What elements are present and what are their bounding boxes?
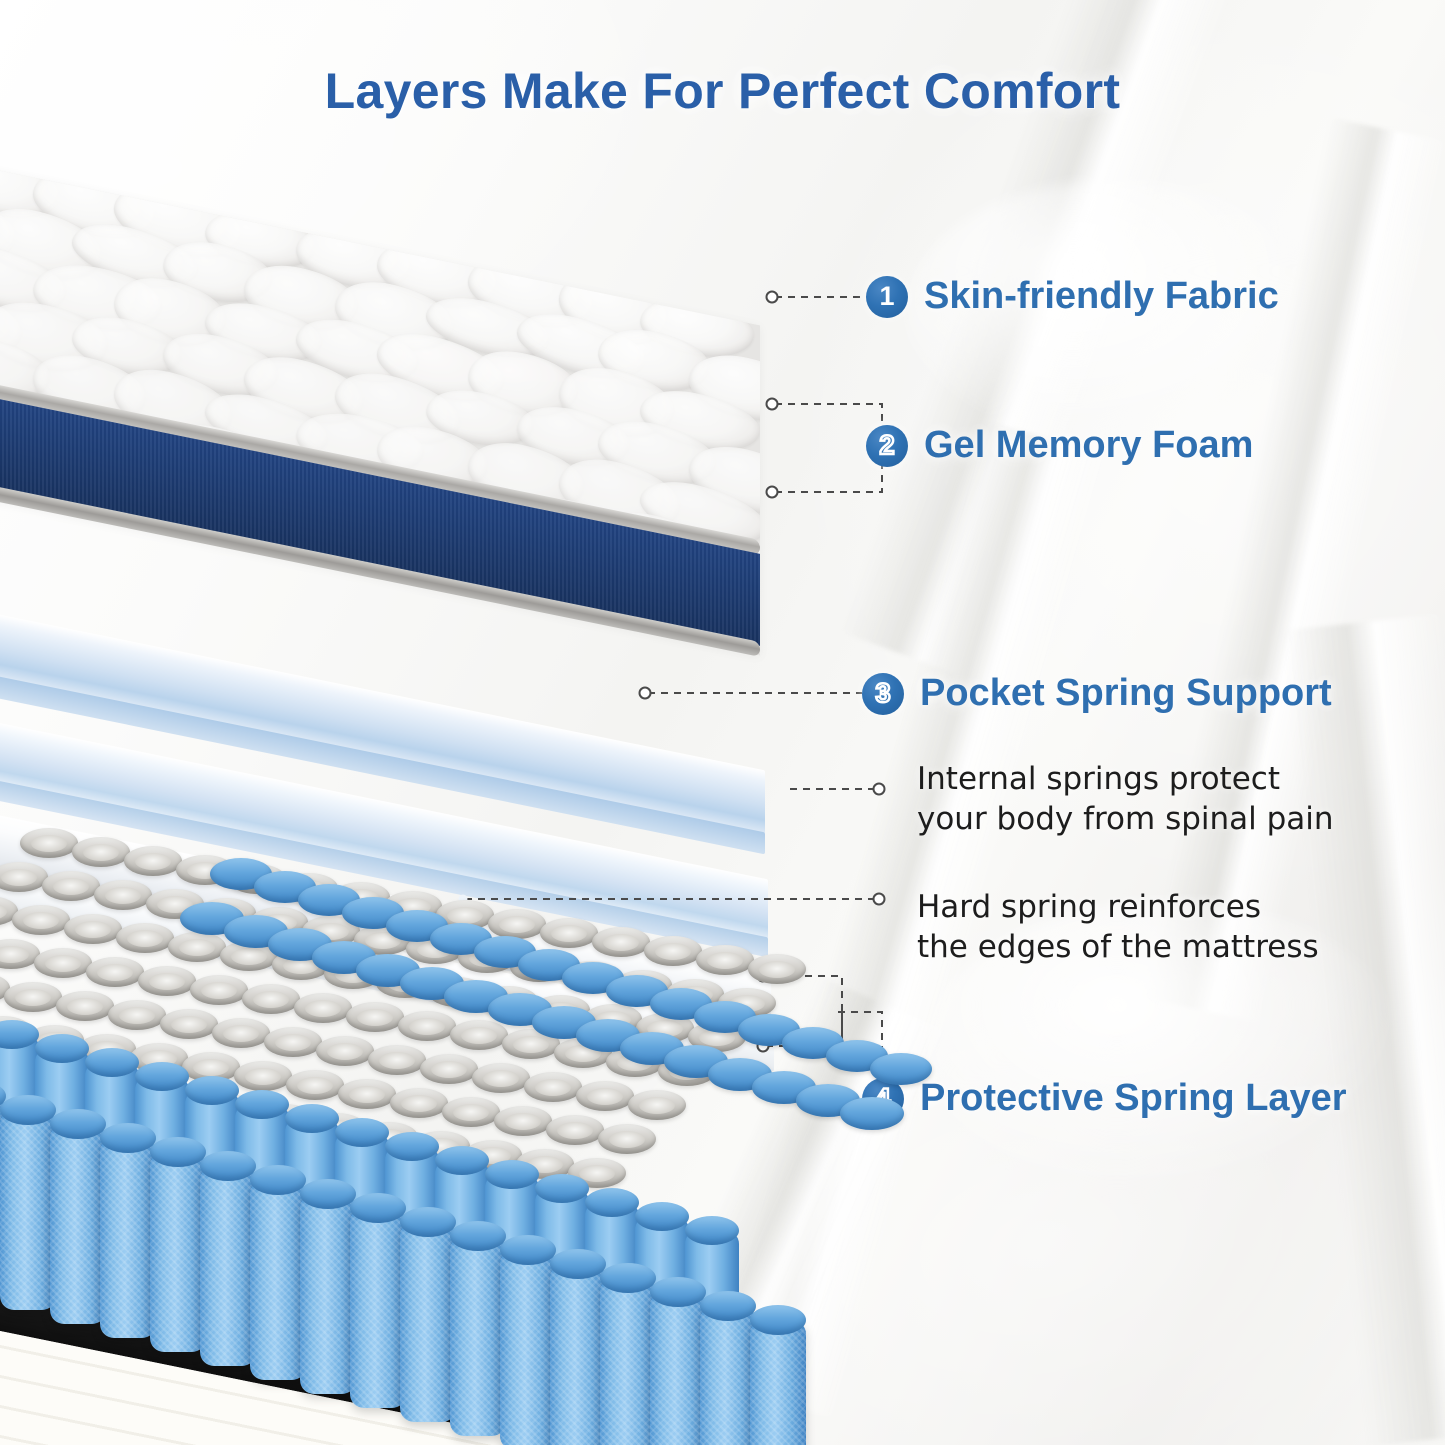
- leader-dot-detail-2: [874, 894, 885, 905]
- interior-coil-ring: [135, 853, 171, 870]
- edge-support-spring-cap: [50, 1109, 106, 1139]
- leader-dot-2a: [767, 399, 778, 410]
- infographic-canvas: Layers Make For Perfect Comfort 1 Skin-f…: [0, 0, 1445, 1445]
- interior-coil-ring: [379, 1052, 415, 1069]
- edge-support-spring-mid-cap: [485, 1160, 539, 1189]
- interior-coil-ring: [513, 1036, 549, 1053]
- interior-coil-ring: [499, 916, 535, 933]
- leader-dot-3: [640, 688, 651, 699]
- interior-coil-ring: [603, 934, 639, 951]
- edge-support-spring: [500, 1250, 556, 1445]
- interior-coil-ring: [1, 869, 37, 886]
- interior-coil-ring: [707, 952, 743, 969]
- interior-coil-ring: [15, 989, 51, 1006]
- edge-support-spring-mid-cap: [285, 1104, 339, 1133]
- interior-coil-ring: [193, 1059, 229, 1076]
- edge-support-spring-mid-cap: [685, 1216, 739, 1245]
- edge-support-spring: [150, 1152, 206, 1352]
- interior-coil-ring: [557, 1122, 593, 1139]
- interior-coil-ring: [357, 1009, 393, 1026]
- interior-coil-ring: [127, 930, 163, 947]
- edge-support-spring-cap: [750, 1305, 806, 1335]
- edge-support-spring: [750, 1320, 806, 1445]
- interior-coil-ring: [609, 1131, 645, 1148]
- edge-support-spring: [100, 1138, 156, 1338]
- callout-1: 1 Skin-friendly Fabric: [866, 275, 1279, 318]
- interior-coil-ring: [171, 1016, 207, 1033]
- callout-label-1: Skin-friendly Fabric: [924, 275, 1279, 318]
- edge-support-spring-cap: [600, 1263, 656, 1293]
- callout-3: 3 Pocket Spring Support: [862, 672, 1332, 715]
- interior-coil-ring: [253, 991, 289, 1008]
- edge-support-spring-mid-cap: [385, 1132, 439, 1161]
- interior-coil-ring: [639, 1097, 675, 1114]
- interior-coil-ring: [297, 1077, 333, 1094]
- edge-support-spring: [50, 1124, 106, 1324]
- edge-coil-back: [870, 1053, 932, 1085]
- interior-coil-ring: [223, 1025, 259, 1042]
- interior-coil-ring: [453, 1104, 489, 1121]
- edge-support-spring-mid-cap: [235, 1090, 289, 1119]
- interior-coil-ring: [179, 939, 215, 956]
- interior-coil-ring: [245, 1068, 281, 1085]
- edge-support-spring-mid-cap: [585, 1188, 639, 1217]
- edge-support-spring-cap: [100, 1123, 156, 1153]
- edge-support-spring: [550, 1264, 606, 1445]
- edge-support-spring-cap: [700, 1291, 756, 1321]
- edge-coil-back2: [840, 1097, 904, 1130]
- interior-coil-ring: [53, 878, 89, 895]
- edge-support-spring-mid-cap: [435, 1146, 489, 1175]
- interior-coil-ring: [461, 1027, 497, 1044]
- interior-coil-ring: [759, 961, 795, 978]
- callout-label-4: Protective Spring Layer: [920, 1077, 1347, 1120]
- leader-dot-2b: [767, 487, 778, 498]
- interior-coil-ring: [75, 921, 111, 938]
- callout-label-3: Pocket Spring Support: [920, 672, 1332, 715]
- callout-badge-1: 1: [866, 276, 908, 318]
- interior-coil-ring: [275, 1034, 311, 1051]
- interior-coil-ring: [201, 982, 237, 999]
- page-title: Layers Make For Perfect Comfort: [0, 62, 1445, 120]
- edge-support-spring: [300, 1194, 356, 1394]
- edge-support-spring: [450, 1236, 506, 1436]
- edge-support-spring: [600, 1278, 656, 1445]
- interior-coil-ring: [409, 1018, 445, 1035]
- interior-coil-ring: [149, 973, 185, 990]
- callout-badge-2: 2: [866, 425, 908, 467]
- interior-coil-ring: [401, 1095, 437, 1112]
- edge-support-spring-mid-cap: [635, 1202, 689, 1231]
- edge-support-spring-mid-cap: [185, 1076, 239, 1105]
- detail-text-2: Hard spring reinforces the edges of the …: [917, 888, 1319, 967]
- interior-coil-ring: [105, 887, 141, 904]
- edge-support-spring-cap: [150, 1137, 206, 1167]
- edge-support-spring: [650, 1292, 706, 1445]
- edge-support-spring-mid-cap: [335, 1118, 389, 1147]
- edge-support-spring-mid-cap: [535, 1174, 589, 1203]
- interior-coil-ring: [349, 1086, 385, 1103]
- interior-coil-ring: [483, 1070, 519, 1087]
- edge-support-spring-cap: [400, 1207, 456, 1237]
- detail-text-1: Internal springs protect your body from …: [917, 760, 1334, 839]
- edge-support-spring-cap: [200, 1151, 256, 1181]
- interior-coil-ring: [45, 955, 81, 972]
- edge-support-spring: [350, 1208, 406, 1408]
- interior-coil-ring: [551, 925, 587, 942]
- edge-support-spring-cap: [300, 1179, 356, 1209]
- edge-support-spring-cap: [550, 1249, 606, 1279]
- interior-coil-ring: [97, 964, 133, 981]
- interior-coil-ring: [431, 1061, 467, 1078]
- interior-coil-ring: [327, 1043, 363, 1060]
- edge-support-spring: [700, 1306, 756, 1445]
- interior-coil-ring: [587, 1088, 623, 1105]
- edge-support-spring-cap: [0, 1095, 56, 1125]
- interior-coil-ring: [505, 1113, 541, 1130]
- interior-coil-ring: [83, 844, 119, 861]
- interior-coil-ring: [231, 948, 267, 965]
- edge-support-spring: [200, 1166, 256, 1366]
- edge-support-spring-cap: [250, 1165, 306, 1195]
- edge-support-spring-mid-cap: [85, 1048, 139, 1077]
- edge-support-spring-mid-cap: [35, 1034, 89, 1063]
- edge-support-spring-mid-cap: [135, 1062, 189, 1091]
- callout-4: 4 Protective Spring Layer: [862, 1077, 1347, 1120]
- interior-coil-ring: [119, 1007, 155, 1024]
- callout-badge-3: 3: [862, 673, 904, 715]
- interior-coil-ring: [305, 1000, 341, 1017]
- edge-support-spring-cap: [500, 1235, 556, 1265]
- interior-coil-ring: [31, 835, 67, 852]
- interior-coil-ring: [67, 998, 103, 1015]
- leader-dot-1: [767, 292, 778, 303]
- interior-coil-ring: [655, 943, 691, 960]
- interior-coil-ring: [447, 907, 483, 924]
- edge-support-spring: [250, 1180, 306, 1380]
- edge-support-spring-cap: [450, 1221, 506, 1251]
- edge-support-spring: [0, 1110, 56, 1310]
- edge-support-spring-cap: [350, 1193, 406, 1223]
- edge-support-spring-cap: [650, 1277, 706, 1307]
- callout-label-2: Gel Memory Foam: [924, 424, 1253, 467]
- edge-support-spring: [400, 1222, 456, 1422]
- callout-2: 2 Gel Memory Foam: [866, 424, 1253, 467]
- leader-dot-detail-1: [874, 784, 885, 795]
- interior-coil-ring: [23, 912, 59, 929]
- interior-coil-ring: [535, 1079, 571, 1096]
